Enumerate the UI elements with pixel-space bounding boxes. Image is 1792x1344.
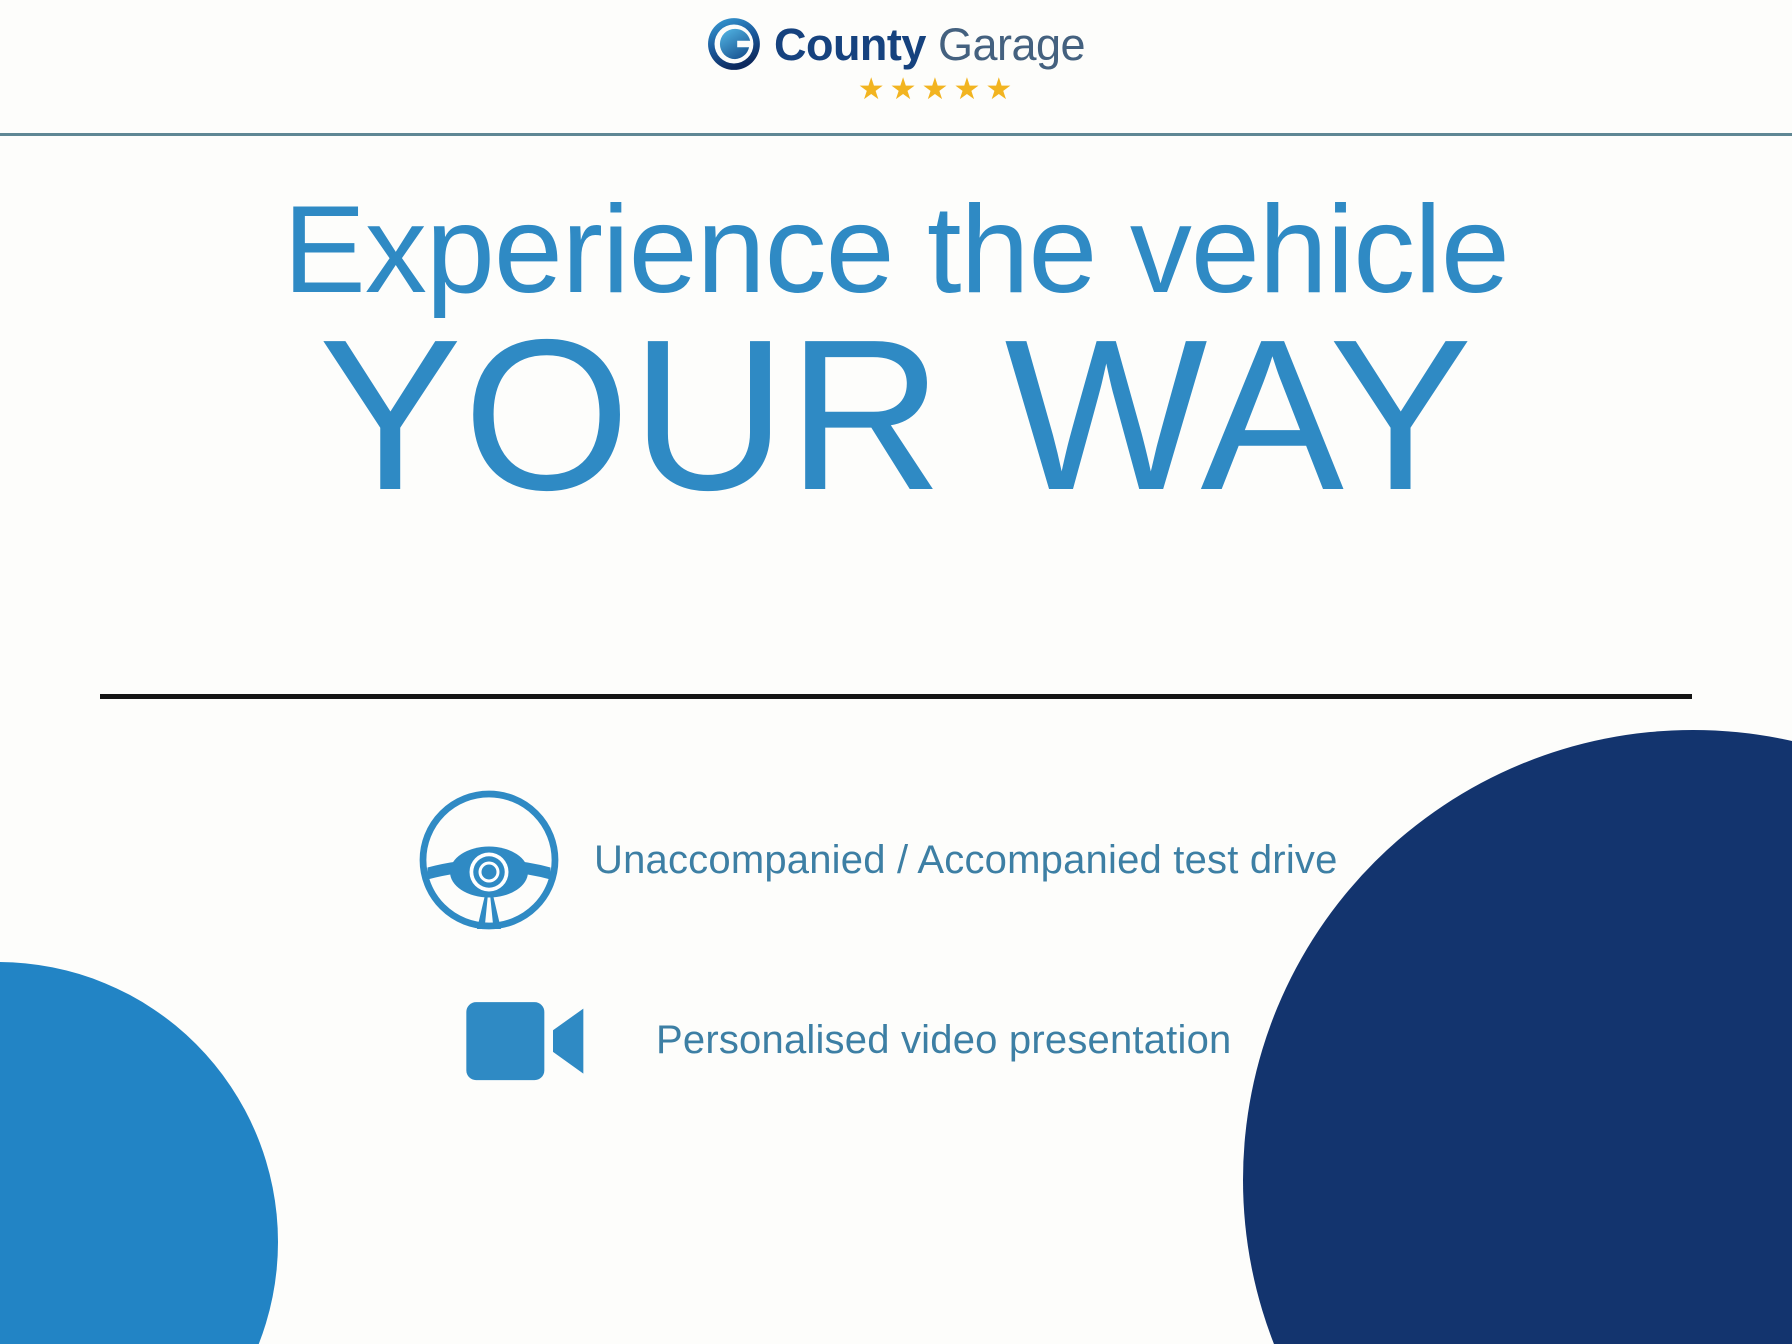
brand-header: CountyGarage ★ ★ ★ ★ ★ [0,0,1792,136]
star-icon: ★ [858,75,885,105]
headline-line-emphasis: YOUR WAY [0,310,1792,521]
brand-name-secondary: Garage [938,19,1085,70]
county-garage-circle-logo-icon [707,17,761,71]
feature-label: Unaccompanied / Accompanied test drive [594,838,1338,883]
decorative-circle-bottom-left [0,962,278,1344]
feature-item-test-drive: Unaccompanied / Accompanied test drive [418,770,1418,950]
brand-name: CountyGarage [774,22,1085,67]
feature-list: Unaccompanied / Accompanied test drive P… [418,770,1418,1130]
feature-item-video-presentation: Personalised video presentation [418,950,1418,1130]
brand-lockup: CountyGarage ★ ★ ★ ★ ★ [707,17,1085,105]
feature-label: Personalised video presentation [656,1018,1231,1063]
video-camera-icon [446,991,608,1089]
star-icon: ★ [890,75,917,105]
headline-divider [100,694,1692,699]
headline-block: Experience the vehicle YOUR WAY [0,185,1792,521]
star-icon: ★ [985,75,1012,105]
steering-wheel-icon [408,785,570,935]
promotional-poster: CountyGarage ★ ★ ★ ★ ★ Experience the ve… [0,0,1792,1344]
star-rating: ★ ★ ★ ★ ★ [858,75,1013,105]
brand-row: CountyGarage [707,17,1085,71]
brand-name-primary: County [774,19,926,70]
header-divider [0,133,1792,136]
star-icon: ★ [922,75,949,105]
star-icon: ★ [953,75,980,105]
